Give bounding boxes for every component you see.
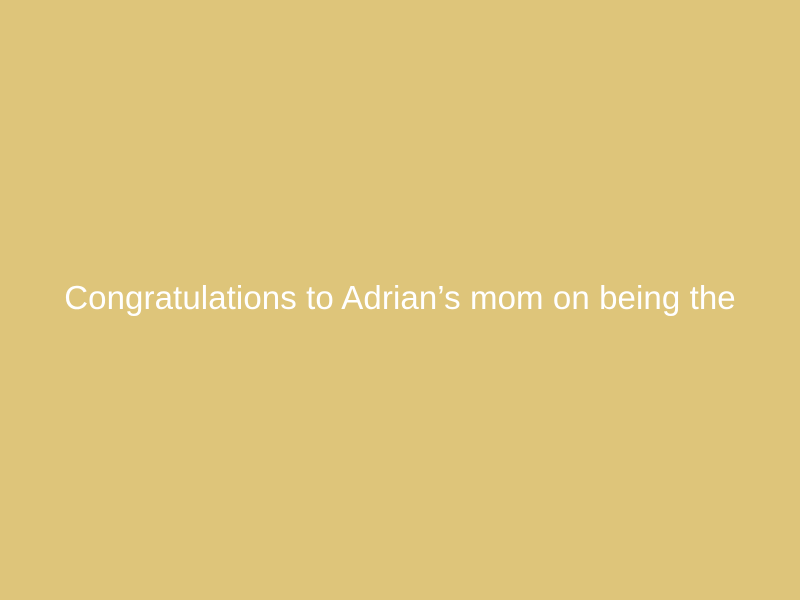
text-card-canvas: Congratulations to Adrian’s mom on being…	[0, 0, 800, 600]
headline-text: Congratulations to Adrian’s mom on being…	[0, 276, 800, 320]
